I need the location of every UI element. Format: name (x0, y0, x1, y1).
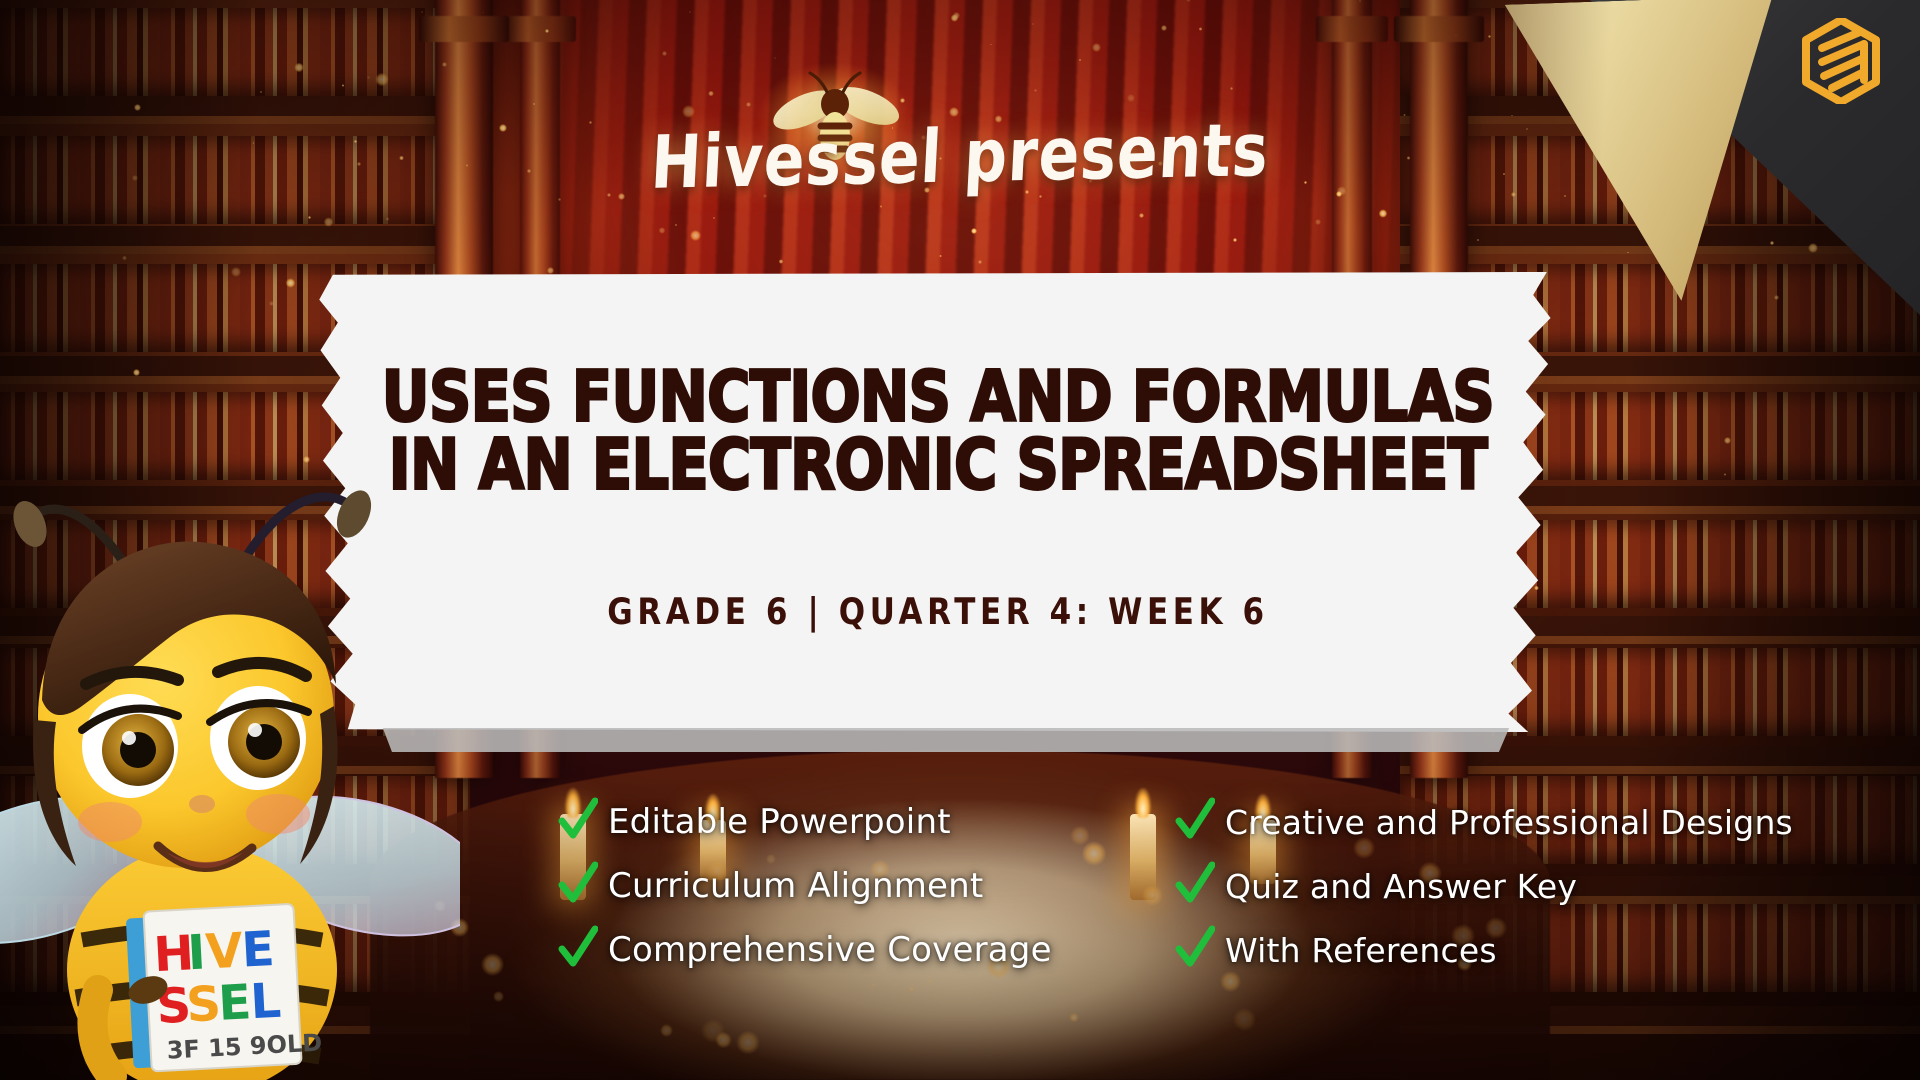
grade-quarter-week-label: GRADE 6 | QUARTER 4: WEEK 6 (318, 591, 1558, 633)
list-item: Quiz and Answer Key (1175, 854, 1920, 918)
svg-text:L: L (249, 973, 282, 1031)
check-icon (1175, 797, 1215, 843)
torn-paper-card: USES FUNCTIONS AND FORMULAS IN AN ELECTR… (318, 272, 1558, 732)
feature-label: With References (1225, 931, 1497, 970)
check-icon (558, 925, 598, 971)
feature-label: Editable Powerpoint (608, 802, 951, 842)
list-item: With References (1175, 918, 1920, 982)
card-content: USES FUNCTIONS AND FORMULAS IN AN ELECTR… (318, 272, 1558, 732)
list-item: Curriculum Alignment (558, 854, 1158, 918)
check-icon (558, 861, 598, 907)
feature-label: Quiz and Answer Key (1225, 867, 1577, 906)
check-icon (1175, 925, 1215, 971)
list-item: Comprehensive Coverage (558, 918, 1158, 982)
check-icon (1175, 861, 1215, 907)
feature-label: Comprehensive Coverage (608, 930, 1052, 970)
svg-text:E: E (217, 974, 253, 1032)
feature-label: Curriculum Alignment (608, 866, 983, 906)
svg-text:E: E (240, 921, 276, 979)
bee-mascot: H I V E S S E L 3F 15 9OLD (0, 470, 460, 1080)
poster-canvas: Hivessel presents USES FUNCTIONS AND FOR… (0, 0, 1920, 1080)
feature-label: Creative and Professional Designs (1225, 803, 1793, 842)
list-item: Creative and Professional Designs (1175, 790, 1920, 854)
feature-column-left: Editable Powerpoint Curriculum Alignment… (558, 790, 1158, 982)
feature-column-right: Creative and Professional Designs Quiz a… (1175, 790, 1920, 982)
list-item: Editable Powerpoint (558, 790, 1158, 854)
check-icon (558, 797, 598, 843)
svg-text:V: V (204, 923, 244, 981)
card-shadow-band (376, 728, 1516, 752)
hexagon-honeycomb-logo-icon[interactable] (1802, 18, 1880, 104)
